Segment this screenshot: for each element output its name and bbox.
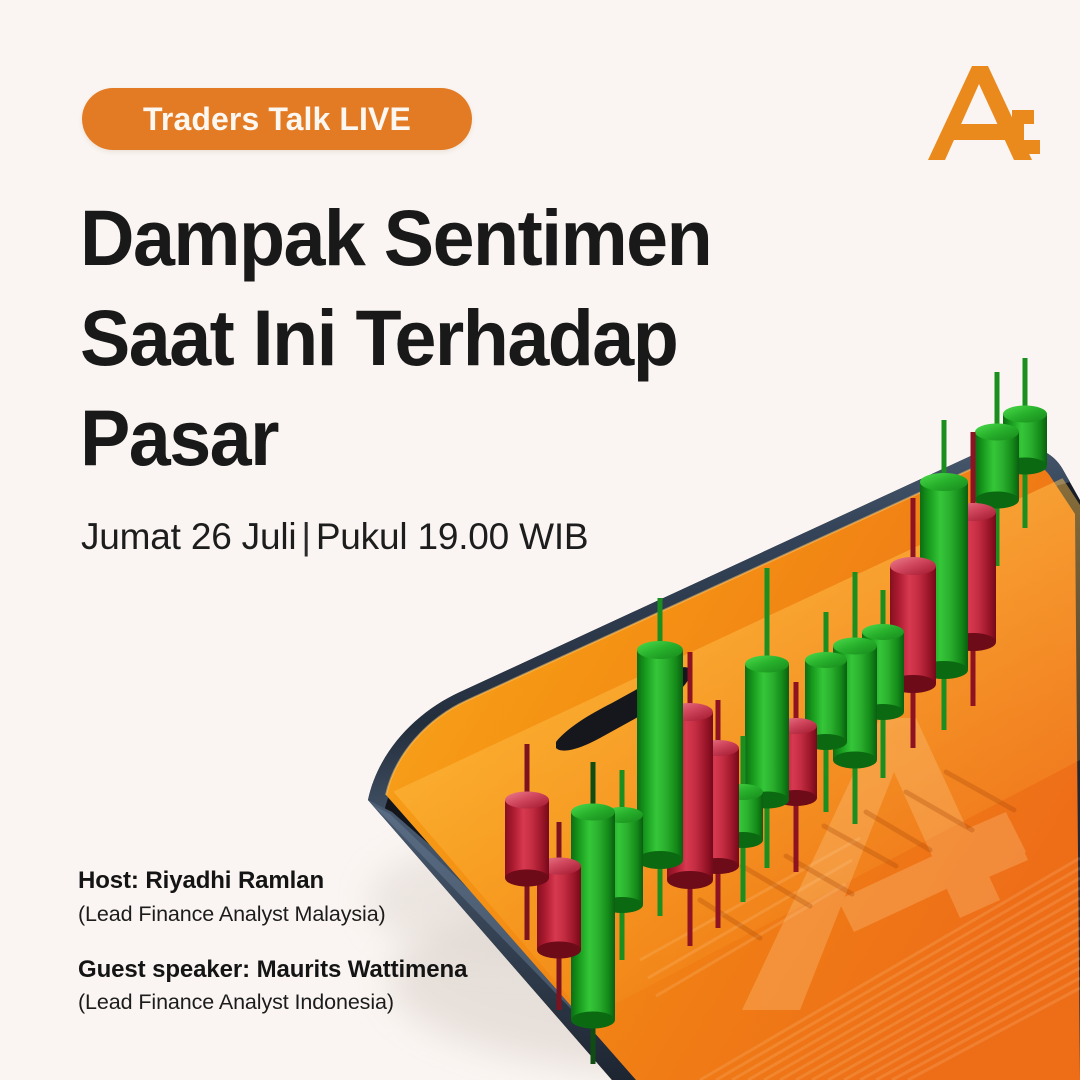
speaker-credits: Host: Riyadhi Ramlan (Lead Finance Analy… <box>78 866 467 1017</box>
live-badge-label: Traders Talk LIVE <box>143 103 411 135</box>
guest-role: (Lead Finance Analyst Indonesia) <box>78 989 467 1017</box>
host-credit: Host: Riyadhi Ramlan (Lead Finance Analy… <box>78 866 467 929</box>
host-role: (Lead Finance Analyst Malaysia) <box>78 901 467 929</box>
event-date: Jumat 26 Juli <box>81 516 296 557</box>
page-title-line-3: Pasar <box>80 388 768 488</box>
host-name: Host: Riyadhi Ramlan <box>78 866 467 897</box>
datetime-separator: | <box>296 516 315 557</box>
guest-name: Guest speaker: Maurits Wattimena <box>78 955 467 986</box>
event-datetime: Jumat 26 Juli|Pukul 19.00 WIB <box>81 516 588 559</box>
brand-logo <box>928 62 1040 164</box>
event-time: Pukul 19.00 WIB <box>316 516 589 557</box>
page-title-line-1: Dampak Sentimen <box>80 188 768 288</box>
guest-credit: Guest speaker: Maurits Wattimena (Lead F… <box>78 955 467 1018</box>
page-title-line-2: Saat Ini Terhadap <box>80 288 768 388</box>
page-title: Dampak Sentimen Saat Ini Terhadap Pasar <box>80 188 768 488</box>
promo-poster: Traders Talk LIVE Dampak Sentimen Saat I… <box>0 0 1080 1080</box>
live-badge: Traders Talk LIVE <box>82 88 472 150</box>
ascend-a-monogram-icon <box>928 62 1040 164</box>
